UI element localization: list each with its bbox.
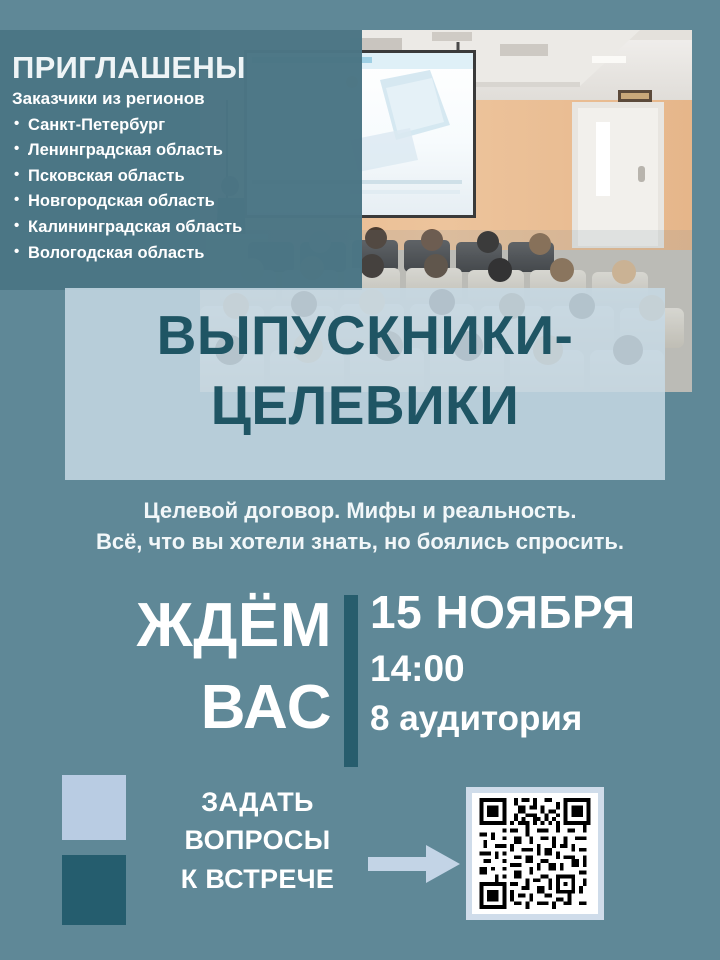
subtitle-line-2: Всё, что вы хотели знать, но боялись спр… [30,526,690,557]
list-item: Санкт-Петербург [12,113,352,139]
region-list: Санкт-Петербург Ленинградская область Пс… [12,113,352,266]
page-title: ВЫПУСКНИКИ- ЦЕЛЕВИКИ [65,300,665,441]
list-item: Новгородская область [12,189,352,215]
qr-code[interactable] [466,787,604,920]
subtitle-line-1: Целевой договор. Мифы и реальность. [30,495,690,526]
list-item: Ленинградская область [12,138,352,164]
page-title-line-1: ВЫПУСКНИКИ- [65,300,665,370]
page-title-line-2: ЦЕЛЕВИКИ [65,370,665,440]
qr-code-image [472,793,598,914]
list-item: Вологодская область [12,241,352,267]
wait-line-2: ВАС [20,667,332,749]
invited-heading: ПРИГЛАШЕНЫ [12,52,352,83]
cta-text: ЗАДАТЬ ВОПРОСЫ К ВСТРЕЧЕ [150,783,365,898]
event-date: 15 НОЯБРЯ [370,588,700,636]
event-time: 14:00 [370,650,700,689]
list-item: Псковская область [12,164,352,190]
invited-panel: ПРИГЛАШЕНЫ Заказчики из регионов Санкт-П… [0,30,362,290]
vertical-divider [344,595,358,767]
invited-subheading: Заказчики из регионов [12,90,352,109]
wait-line-1: ЖДЁМ [20,585,332,667]
subtitle: Целевой договор. Мифы и реальность. Всё,… [0,495,720,557]
event-details: 15 НОЯБРЯ 14:00 8 аудитория [370,588,700,738]
event-room: 8 аудитория [370,701,700,738]
cta-line-2: ВОПРОСЫ [150,821,365,859]
poster: ПРИГЛАШЕНЫ Заказчики из регионов Санкт-П… [0,0,720,960]
cta-line-3: К ВСТРЕЧЕ [150,860,365,898]
decor-square-dark [62,855,126,925]
cta-line-1: ЗАДАТЬ [150,783,365,821]
wait-for-you-text: ЖДЁМ ВАС [20,585,332,749]
list-item: Калининградская область [12,215,352,241]
decor-square-light [62,775,126,840]
arrow-right-icon [368,845,460,883]
